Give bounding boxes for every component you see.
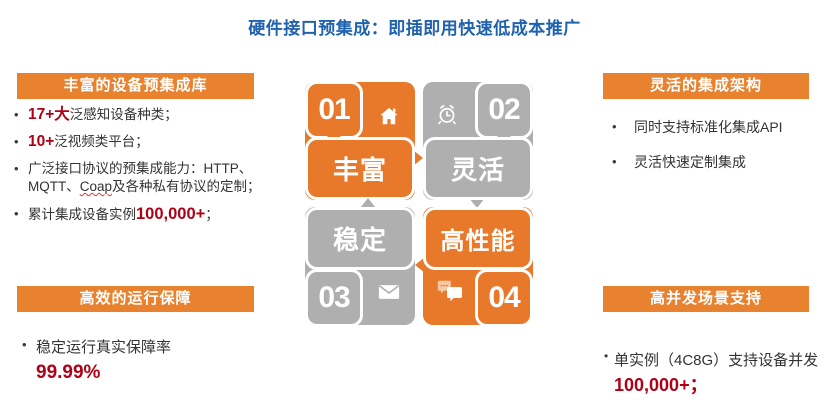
quadrant-number-04[interactable]: 04 xyxy=(478,272,530,324)
bullet-marker: • xyxy=(612,118,634,135)
list-item-text: 17+大泛感知设备种类； xyxy=(28,106,178,124)
highlight-value: 100,000+ xyxy=(136,205,205,223)
concurrency-label: 单实例（4C8G）支持设备并发 xyxy=(614,352,818,369)
quadrant-bottom-left-notch xyxy=(360,198,376,208)
bullet-list-device-library: • 17+大泛感知设备种类； • 10+泛视频类平台； • 广泛接口协议的预集成… xyxy=(14,106,290,233)
spellcheck-flagged-word: Coap xyxy=(80,179,112,194)
list-item: • 单实例（4C8G）支持设备并发100,000+； xyxy=(604,348,829,399)
quadrant-label-04[interactable]: 高性能 xyxy=(426,210,530,267)
highlight-value: 10+ xyxy=(28,133,54,150)
quadrant-label-02[interactable]: 灵活 xyxy=(426,140,530,197)
list-item: • 17+大泛感知设备种类； xyxy=(14,106,290,124)
list-item-head: 累计集成设备实例 xyxy=(28,207,136,222)
quadrant-number-04-text: 04 xyxy=(488,281,519,315)
list-item: • 广泛接口协议的预集成能力：HTTP、MQTT、Coap及各种私有协议的定制； xyxy=(14,160,290,196)
bullet-list-runtime-assurance: • 稳定运行真实保障率99.99% xyxy=(22,336,290,395)
quadrant-bottom-right-notch xyxy=(415,257,425,273)
list-item-text: 累计集成设备实例100,000+； xyxy=(28,205,219,224)
list-item-text: 稳定运行真实保障率99.99% xyxy=(36,336,171,386)
four-quadrant-diagram: 01 丰富 02 灵活 稳定 03 xyxy=(305,82,533,322)
panel-header-flexible-architecture: 灵活的集成架构 xyxy=(603,73,809,99)
quadrant-number-02-text: 02 xyxy=(488,93,519,127)
list-item: • 累计集成设备实例100,000+； xyxy=(14,205,290,224)
bullet-list-flexible-architecture: • 同时支持标准化集成API • 灵活快速定制集成 xyxy=(612,118,828,188)
envelope-icon xyxy=(375,280,403,304)
chat-bubbles-icon xyxy=(435,278,465,304)
quadrant-top-left-notch xyxy=(413,150,423,166)
list-item-text: 灵活快速定制集成 xyxy=(634,153,746,172)
concurrency-value: 100,000+； xyxy=(614,375,708,395)
list-item: • 灵活快速定制集成 xyxy=(612,153,828,172)
quadrant-label-01[interactable]: 丰富 xyxy=(308,140,412,197)
bullet-list-high-concurrency: • 单实例（4C8G）支持设备并发100,000+； xyxy=(604,348,829,408)
quadrant-number-02[interactable]: 02 xyxy=(478,84,530,136)
highlight-value: 17+大 xyxy=(28,106,70,123)
panel-header-high-concurrency: 高并发场景支持 xyxy=(603,286,809,312)
list-item-text: 单实例（4C8G）支持设备并发100,000+； xyxy=(614,348,829,399)
quadrant-label-03-text: 稳定 xyxy=(333,220,387,257)
quadrant-label-01-text: 丰富 xyxy=(333,150,387,187)
bullet-marker: • xyxy=(22,336,36,353)
list-item: • 10+泛视频类平台； xyxy=(14,133,290,151)
page-title: 硬件接口预集成：即插即用快速低成本推广 xyxy=(0,14,829,39)
list-item-tail: 泛感知设备种类； xyxy=(70,107,178,122)
quadrant-label-02-text: 灵活 xyxy=(451,150,505,187)
panel-header-runtime-assurance: 高效的运行保障 xyxy=(17,286,254,312)
list-item-tail: 及各种私有协议的定制； xyxy=(112,179,261,194)
quadrant-label-03[interactable]: 稳定 xyxy=(308,210,412,267)
bullet-marker: • xyxy=(14,133,28,150)
list-item-text: 广泛接口协议的预集成能力：HTTP、MQTT、Coap及各种私有协议的定制； xyxy=(28,160,290,196)
bullet-marker: • xyxy=(604,348,614,365)
assurance-label: 稳定运行真实保障率 xyxy=(36,339,171,356)
list-item-text: 10+泛视频类平台； xyxy=(28,133,149,151)
bullet-marker: • xyxy=(14,160,28,177)
quadrant-number-03-text: 03 xyxy=(318,281,349,315)
assurance-value: 99.99% xyxy=(36,360,171,386)
list-item-tail: ； xyxy=(205,207,219,222)
home-icon xyxy=(375,102,403,130)
list-item-text: 同时支持标准化集成API xyxy=(634,118,783,137)
list-item: • 稳定运行真实保障率99.99% xyxy=(22,336,290,386)
list-item-tail: 泛视频类平台； xyxy=(54,134,149,149)
quadrant-number-01-text: 01 xyxy=(318,93,349,127)
quadrant-label-04-text: 高性能 xyxy=(441,221,516,256)
bullet-marker: • xyxy=(14,205,28,222)
panel-header-device-library: 丰富的设备预集成库 xyxy=(17,73,254,99)
bullet-marker: • xyxy=(14,106,28,123)
quadrant-number-01[interactable]: 01 xyxy=(308,84,360,136)
alarm-clock-icon xyxy=(433,100,461,128)
bullet-marker: • xyxy=(612,153,634,170)
list-item: • 同时支持标准化集成API xyxy=(612,118,828,137)
quadrant-number-03[interactable]: 03 xyxy=(308,272,360,324)
